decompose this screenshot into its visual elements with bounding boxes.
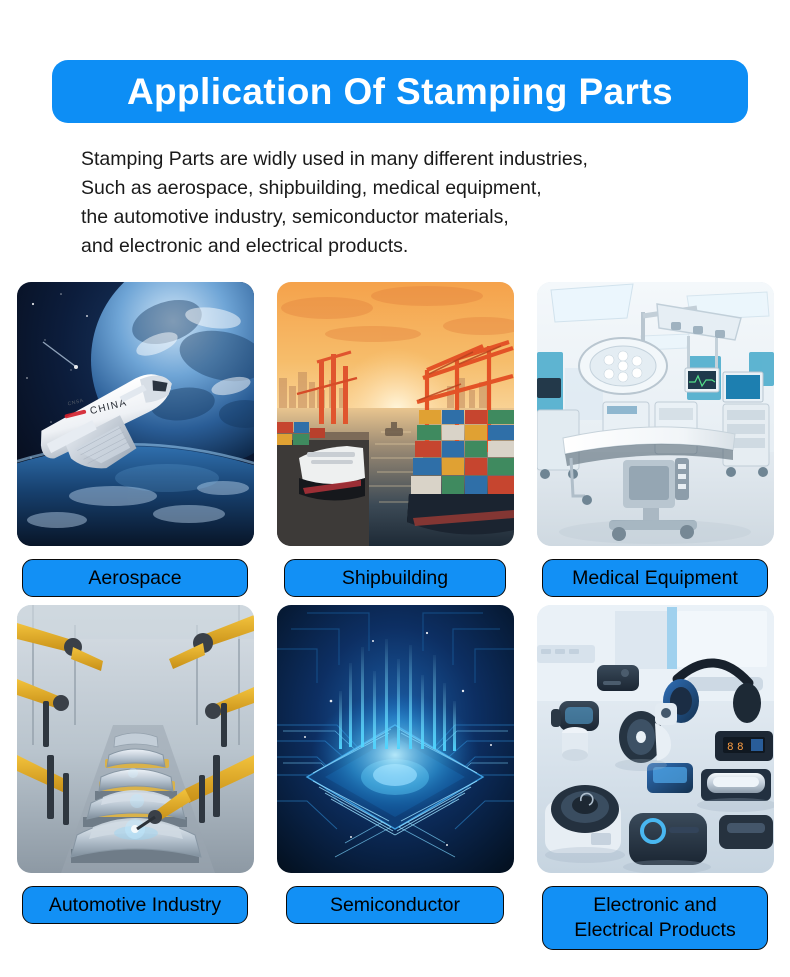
svg-text:8: 8 xyxy=(737,742,744,754)
svg-text:8: 8 xyxy=(727,742,734,754)
intro-line-4: and electronic and electrical products. xyxy=(81,232,741,261)
application-card-shipbuilding[interactable]: Shipbuilding xyxy=(275,282,515,597)
application-card-electronic-products[interactable]: 88 xyxy=(535,605,775,950)
card-label-medical-equipment[interactable]: Medical Equipment xyxy=(542,559,768,597)
card-label-aerospace[interactable]: Aerospace xyxy=(22,559,248,597)
application-grid: CHINA CNSA Aerospace xyxy=(15,282,775,958)
application-card-medical-equipment[interactable]: Medical Equipment xyxy=(535,282,775,597)
intro-paragraph: Stamping Parts are widly used in many di… xyxy=(81,145,741,261)
intro-line-2: Such as aerospace, shipbuilding, medical… xyxy=(81,174,741,203)
page-title-banner: Application Of Stamping Parts xyxy=(52,60,748,123)
intro-line-3: the automotive industry, semiconductor m… xyxy=(81,203,741,232)
card-label-shipbuilding[interactable]: Shipbuilding xyxy=(284,559,506,597)
semiconductor-image xyxy=(277,605,514,873)
automotive-industry-image xyxy=(17,605,254,873)
application-grid-row-1: CHINA CNSA Aerospace xyxy=(15,282,775,597)
card-label-electronic-products[interactable]: Electronic and Electrical Products xyxy=(542,886,768,950)
page-title: Application Of Stamping Parts xyxy=(127,73,673,110)
electronic-products-image: 88 xyxy=(537,605,774,873)
poster: Application Of Stamping Parts Stamping P… xyxy=(0,0,790,977)
application-card-automotive-industry[interactable]: Automotive Industry xyxy=(15,605,255,950)
shipbuilding-image xyxy=(277,282,514,546)
application-card-semiconductor[interactable]: Semiconductor xyxy=(275,605,515,950)
application-card-aerospace[interactable]: CHINA CNSA Aerospace xyxy=(15,282,255,597)
card-label-automotive-industry[interactable]: Automotive Industry xyxy=(22,886,248,924)
medical-equipment-image xyxy=(537,282,774,546)
application-grid-row-2: Automotive Industry xyxy=(15,605,775,950)
card-label-semiconductor[interactable]: Semiconductor xyxy=(286,886,504,924)
aerospace-image: CHINA CNSA xyxy=(17,282,254,546)
intro-line-1: Stamping Parts are widly used in many di… xyxy=(81,145,741,174)
